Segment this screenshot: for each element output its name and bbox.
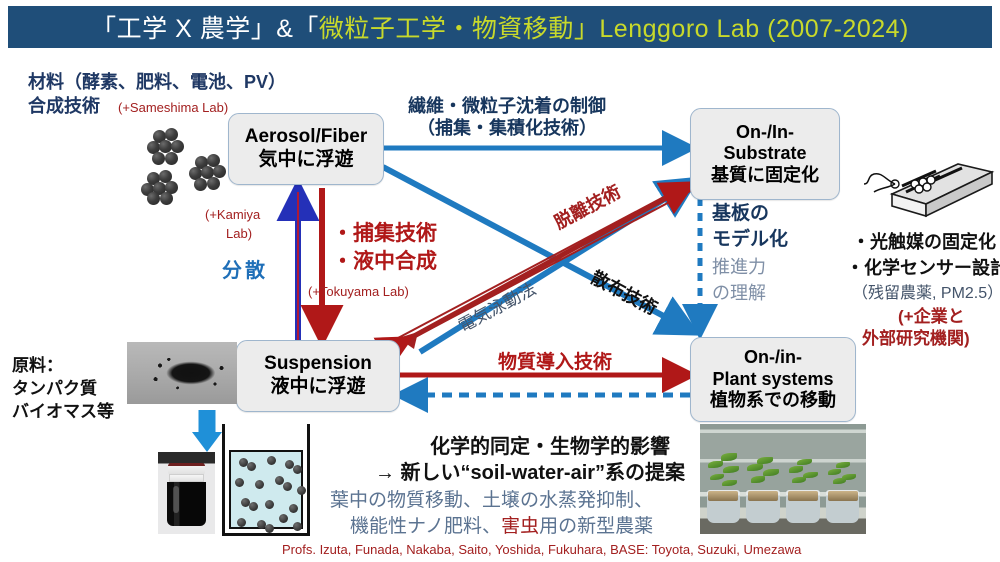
label-tokuyama-lab: (+Tokuyama Lab) (308, 284, 409, 299)
label-deposition-control-line2: （捕集・集積化技術） (417, 118, 597, 139)
right-list-line5: 外部研究機関) (862, 329, 970, 349)
node-substrate-line2: Substrate (723, 143, 806, 165)
right-list-line2: ・化学センサー設計 (846, 258, 1000, 279)
label-kamiya-lab-line2: Lab) (226, 226, 252, 241)
node-aerosol-fiber[interactable]: Aerosol/Fiber 気中に浮遊 (228, 113, 384, 185)
node-plant-line1: On-/in- (744, 347, 802, 369)
label-kamiya-lab-line1: (+Kamiya (205, 207, 260, 222)
label-collection-technology: ・捕集技術 (332, 222, 437, 247)
label-deposition-control-line1: 繊維・微粒子沈着の制御 (408, 96, 606, 117)
node-aerosol-line1: Aerosol/Fiber (245, 126, 367, 149)
title-text-yellow: 微粒子工学・物資移動」Lenggoro Lab (2007-2024) (319, 9, 909, 45)
photo-black-suspension-vial (158, 452, 215, 534)
beaker-schematic (222, 424, 310, 536)
title-text-white: 「工学 X 農学」&「 (91, 9, 319, 45)
label-substrate-modeling-line1: 基板の (712, 203, 769, 225)
sameshima-lab-note: (+Sameshima Lab) (118, 100, 228, 115)
label-detachment-technology: 脱離技術 (551, 181, 625, 234)
node-aerosol-line2: 気中に浮遊 (258, 149, 353, 172)
label-driving-force-line1: 推進力 (712, 257, 766, 278)
node-on-in-substrate[interactable]: On-/In- Substrate 基質に固定化 (690, 108, 840, 200)
right-list-line1: ・光触媒の固定化 (852, 232, 996, 253)
label-substance-introduction: 物質導入技術 (498, 352, 612, 374)
photo-black-powder (127, 342, 237, 404)
materials-line1: 材料（酵素、肥料、電池、PV） (28, 72, 286, 93)
label-electrophoresis: 電気泳動法 (455, 279, 539, 337)
bottom-center-line4: 機能性ナノ肥料、害虫用の新型農薬 (350, 516, 653, 538)
credits-line: Profs. Izuta, Funada, Nakaba, Saito, Yos… (282, 542, 801, 557)
bottom-center-line3: 葉中の物質移動、土壌の水蒸発抑制、 (330, 490, 653, 512)
label-liquid-synthesis: ・液中合成 (332, 250, 437, 275)
substrate-plate-illustration (862, 158, 998, 232)
feedstock-line1: 原料： (12, 356, 63, 376)
label-dispersion: 分散 (222, 260, 268, 284)
particle-cluster-illustration (135, 128, 235, 198)
node-suspension-line2: 液中に浮遊 (270, 376, 365, 399)
photo-potted-plants (700, 424, 866, 534)
node-substrate-line3: 基質に固定化 (711, 165, 819, 187)
slide-title-bar: 「工学 X 農学」&「微粒子工学・物資移動」Lenggoro Lab (2007… (8, 6, 992, 48)
node-on-in-plant-systems[interactable]: On-/in- Plant systems 植物系での移動 (690, 337, 856, 422)
node-suspension-line1: Suspension (264, 353, 372, 376)
node-plant-line2: Plant systems (712, 369, 833, 391)
bottom-center-line1: 化学的同定・生物学的影響 (430, 436, 670, 460)
materials-line2: 合成技術 (28, 96, 100, 117)
label-substrate-modeling-line2: モデル化 (712, 229, 788, 251)
label-driving-force-line2: の理解 (712, 283, 766, 304)
bottom-center-line4-pest: 害虫 (501, 516, 539, 537)
node-suspension[interactable]: Suspension 液中に浮遊 (236, 340, 400, 412)
feedstock-line2: タンパク質 (12, 379, 97, 399)
right-list-line3: （残留農薬, PM2.5） (852, 285, 1000, 304)
feedstock-line3: バイオマス等 (12, 402, 114, 422)
bottom-center-line4-c: 用の新型農薬 (539, 516, 653, 537)
node-plant-line3: 植物系での移動 (710, 390, 836, 412)
label-spray-technology: 散布技術 (587, 267, 661, 320)
bottom-center-line2: → 新しい“soil-water-air”系の提案 (375, 462, 685, 486)
node-substrate-line1: On-/In- (736, 122, 794, 144)
right-list-line4: (+企業と (898, 307, 965, 327)
diagram-canvas: 「工学 X 農学」&「微粒子工学・物資移動」Lenggoro Lab (2007… (0, 0, 1000, 562)
bottom-center-line4-a: 機能性ナノ肥料、 (350, 516, 501, 537)
